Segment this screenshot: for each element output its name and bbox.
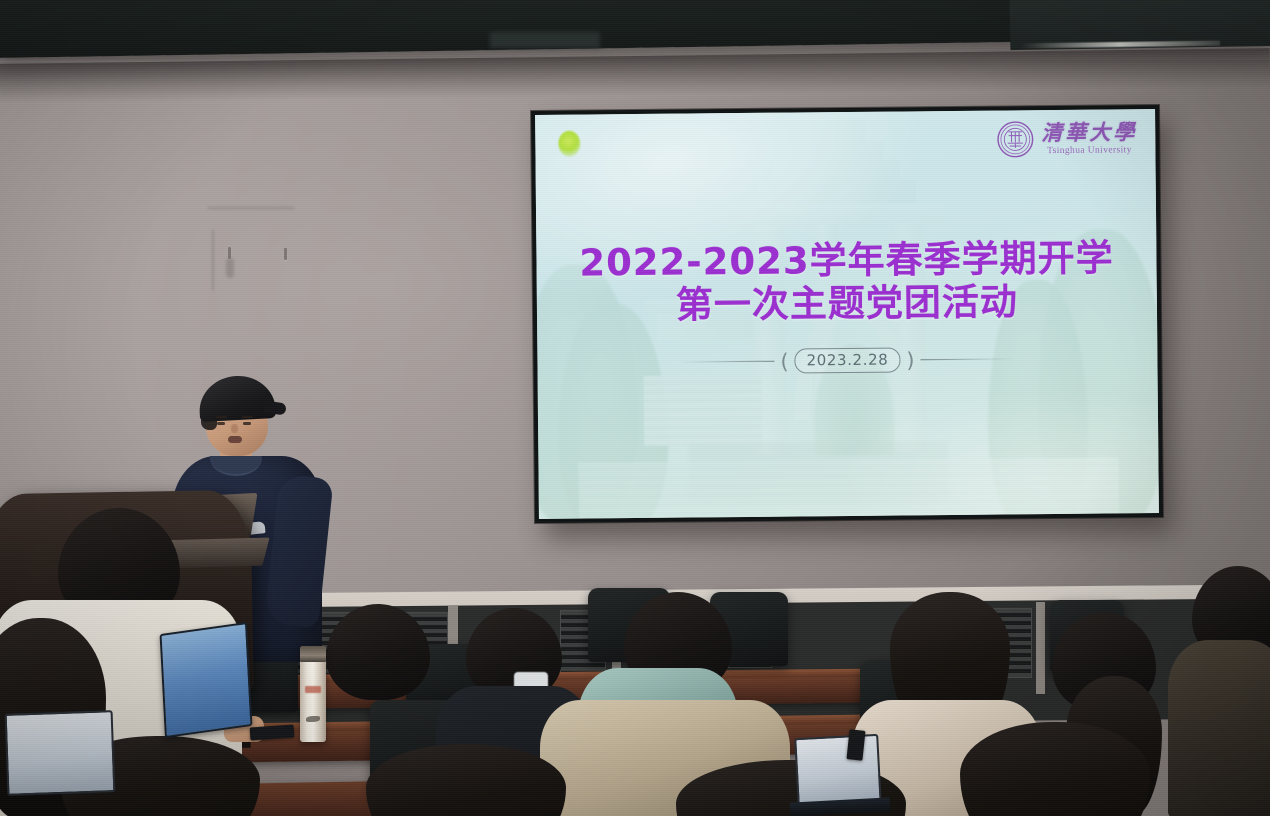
vent-divider-3	[1036, 602, 1045, 694]
thermos-graphic	[306, 716, 320, 722]
smartphone-right-desk[interactable]	[846, 729, 865, 761]
slide-title: 2022-2023学年春季学期开学 第一次主题党团活动	[536, 237, 1157, 329]
logo-wordmark: 清華大學 Tsinghua University	[1041, 122, 1137, 156]
presenter-eye-right	[243, 422, 251, 425]
presenter-mouth	[228, 436, 242, 443]
projector-screen[interactable]: 清華大學 Tsinghua University 2022-2023学年春季学期…	[531, 105, 1163, 523]
ceiling-beam-gap	[490, 32, 600, 48]
thermos-label-mark	[305, 686, 321, 693]
audience-torso-fur-hood-right	[1168, 640, 1270, 816]
laptop-light-screen[interactable]	[5, 710, 116, 796]
logo-chinese-name: 清華大學	[1041, 122, 1137, 145]
laptop-right[interactable]	[794, 734, 882, 808]
presenter-eye-left	[217, 422, 225, 425]
date-rule-right	[921, 358, 1017, 360]
thermos-bottle[interactable]	[300, 646, 326, 742]
date-rule-left	[678, 361, 774, 363]
audience-head-dark-center-left	[326, 604, 430, 700]
logo-english-name: Tsinghua University	[1047, 145, 1132, 156]
presenter-cap	[198, 374, 276, 422]
slide-date-badge: 2023.2.28	[794, 347, 900, 373]
tsinghua-university-logo: 清華大學 Tsinghua University	[996, 119, 1137, 158]
wall-scuff-line	[208, 207, 294, 209]
laptop-blue-screen[interactable]	[160, 622, 253, 738]
audience-hair-front-right	[960, 722, 1150, 816]
lecture-hall-photo: 清華大學 Tsinghua University 2022-2023学年春季学期…	[0, 0, 1270, 816]
thermos-cap	[300, 646, 326, 662]
slide-title-line-2: 第一次主题党团活动	[537, 280, 1157, 329]
slide-title-line-1: 2022-2023学年春季学期开学	[536, 237, 1156, 286]
presenter-nose	[231, 424, 238, 433]
wall-scuff-vertical	[212, 230, 214, 290]
date-paren-left: (	[780, 349, 788, 373]
screen-glare-lower-right	[842, 388, 1159, 519]
date-paren-right: )	[906, 348, 914, 372]
wall-scuff-smudge	[226, 258, 234, 278]
tsinghua-seal-icon	[996, 120, 1034, 158]
laser-pointer-dot	[558, 131, 580, 157]
slide-surface: 清華大學 Tsinghua University 2022-2023学年春季学期…	[535, 109, 1159, 519]
wall-hook-right	[284, 248, 287, 260]
